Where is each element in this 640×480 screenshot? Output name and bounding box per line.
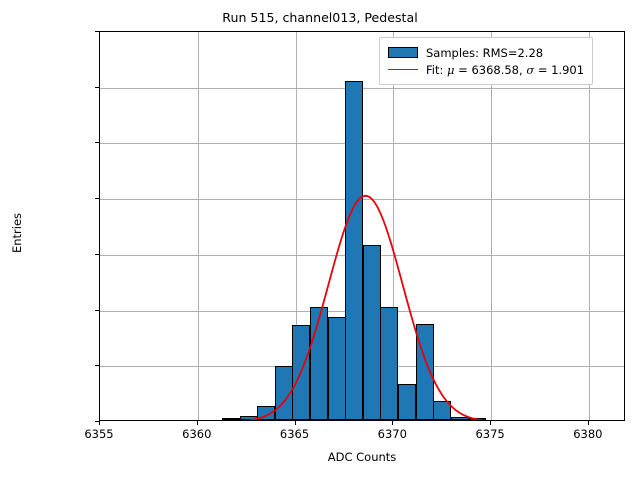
chart-figure: Run 515, channel013, Pedestal 0500001000… [0,0,640,480]
histogram-bar [222,418,240,420]
legend-mu-symbol: μ [447,63,454,77]
histogram-bar [310,307,328,420]
x-tick-mark [392,421,393,425]
histogram-bar [468,418,486,420]
histogram-bar [292,325,310,420]
x-tick-label: 6380 [573,427,602,441]
histogram-bar [451,417,469,420]
histogram-bar [275,366,293,420]
x-tick-mark [197,421,198,425]
legend-sigma-symbol: σ [526,63,534,77]
legend-mu-value: = 6368.58, [455,63,527,77]
x-axis-label: ADC Counts [99,450,625,464]
legend-label-fit: Fit: μ = 6368.58, σ = 1.901 [426,63,584,77]
plot-area [99,31,625,421]
y-axis-label: Entries [10,153,24,313]
legend-sigma-value: = 1.901 [534,63,584,77]
histogram-bar [257,406,275,420]
x-tick-label: 6365 [280,427,309,441]
histogram-bar [240,416,258,420]
x-tick-label: 6370 [378,427,407,441]
x-tick-mark [490,421,491,425]
histogram-bar [416,324,434,420]
gridline-vertical [198,32,199,420]
x-tick-mark [99,421,100,425]
gridline-vertical [589,32,590,420]
legend-fit-prefix: Fit: [426,63,447,77]
legend-label-samples: Samples: RMS=2.28 [426,46,543,60]
legend-line-icon [388,69,418,70]
histogram-bar [398,384,416,420]
histogram-bar [345,81,363,420]
legend-entry-fit: Fit: μ = 6368.58, σ = 1.901 [388,61,584,78]
histogram-bar [380,307,398,420]
histogram-bar [328,317,346,420]
x-tick-label: 6355 [84,427,113,441]
gridline-vertical [491,32,492,420]
x-tick-mark [588,421,589,425]
histogram-bar [363,245,381,420]
legend-entry-samples: Samples: RMS=2.28 [388,44,584,61]
x-tick-label: 6375 [475,427,504,441]
chart-title: Run 515, channel013, Pedestal [0,10,640,25]
x-tick-mark [295,421,296,425]
x-tick-label: 6360 [182,427,211,441]
chart-legend: Samples: RMS=2.28 Fit: μ = 6368.58, σ = … [379,37,593,85]
histogram-bar [433,401,451,421]
legend-patch-icon [388,47,418,58]
